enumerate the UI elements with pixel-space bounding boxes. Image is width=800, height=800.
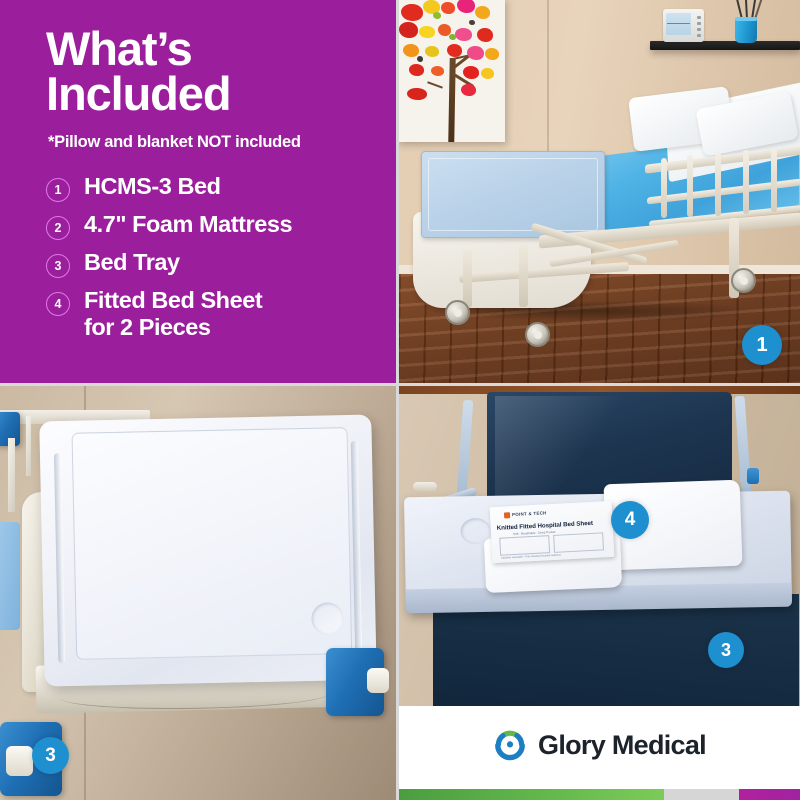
package-label: POINT & TECH Knitted Fitted Hospital Bed… <box>490 501 615 563</box>
brand-footer: Glory Medical <box>399 706 800 800</box>
item-number-bubble: 2 <box>46 216 70 240</box>
item-number-bubble: 3 <box>46 254 70 278</box>
panel-content: What’s Included *Pillow and blanket NOT … <box>46 26 388 350</box>
bed-caster <box>731 268 756 293</box>
clamp-knob <box>6 746 33 776</box>
page-title: What’s Included <box>46 26 388 116</box>
item-label: 4.7" Foam Mattress <box>84 211 292 238</box>
list-item: 2 4.7" Foam Mattress <box>46 211 388 240</box>
wall-shelf <box>650 41 800 50</box>
item-label: HCMS-3 Bed <box>84 173 221 200</box>
status-badge: 1 <box>742 325 782 365</box>
monitor-screen <box>666 13 691 35</box>
photo-sheets-on-tray: POINT & TECH Knitted Fitted Hospital Bed… <box>399 386 800 800</box>
rail-handle <box>413 482 437 491</box>
item-number-bubble: 1 <box>46 178 70 202</box>
bed-column <box>519 245 528 307</box>
item-number-bubble: 4 <box>46 292 70 316</box>
accent-strip-magenta <box>739 789 800 800</box>
blue-mattress-edge <box>0 522 20 630</box>
brand-lockup: Glory Medical <box>399 728 800 762</box>
headline-line-2: Included <box>46 71 388 116</box>
whats-included-panel: What’s Included *Pillow and blanket NOT … <box>0 0 396 383</box>
panel-subnote: *Pillow and blanket NOT included <box>48 133 388 152</box>
status-badge: 3 <box>32 737 69 774</box>
item-label: Fitted Bed Sheet for 2 Pieces <box>84 287 262 341</box>
bed-column <box>463 250 472 308</box>
wall-art-tree-painting <box>399 0 505 142</box>
patient-monitor-icon <box>663 9 704 42</box>
bed-caster <box>525 322 550 347</box>
support-post <box>26 416 31 476</box>
bed-footboard <box>421 151 605 238</box>
accent-strip-gray <box>664 789 739 800</box>
photo-bed-in-room: 1 <box>399 0 800 383</box>
glory-medical-logo-icon <box>493 728 527 762</box>
headline-line-1: What’s <box>46 26 388 71</box>
bed-caster <box>445 300 470 325</box>
tray-recess <box>72 427 353 660</box>
brand-name: Glory Medical <box>538 730 706 761</box>
photo-bed-tray-closeup: 3 <box>0 386 396 800</box>
support-post <box>8 438 15 512</box>
blue-cup <box>735 17 757 43</box>
list-item: 1 HCMS-3 Bed <box>46 173 388 202</box>
included-items-list: 1 HCMS-3 Bed 2 4.7" Foam Mattress 3 Bed … <box>46 173 388 341</box>
status-badge: 4 <box>611 501 649 539</box>
clamp-knob <box>367 668 389 693</box>
accent-strip-green <box>399 789 664 800</box>
item-label: Bed Tray <box>84 249 180 276</box>
bed-tray-panel <box>39 415 376 687</box>
package-brand: POINT & TECH <box>512 510 547 517</box>
status-badge: 3 <box>708 632 744 668</box>
rail-clamp <box>747 468 759 484</box>
clamp-bracket <box>326 648 384 716</box>
brand-mark-icon <box>504 512 510 518</box>
list-item: 3 Bed Tray <box>46 249 388 278</box>
list-item: 4 Fitted Bed Sheet for 2 Pieces <box>46 287 388 341</box>
infographic-canvas: What’s Included *Pillow and blanket NOT … <box>0 0 800 800</box>
